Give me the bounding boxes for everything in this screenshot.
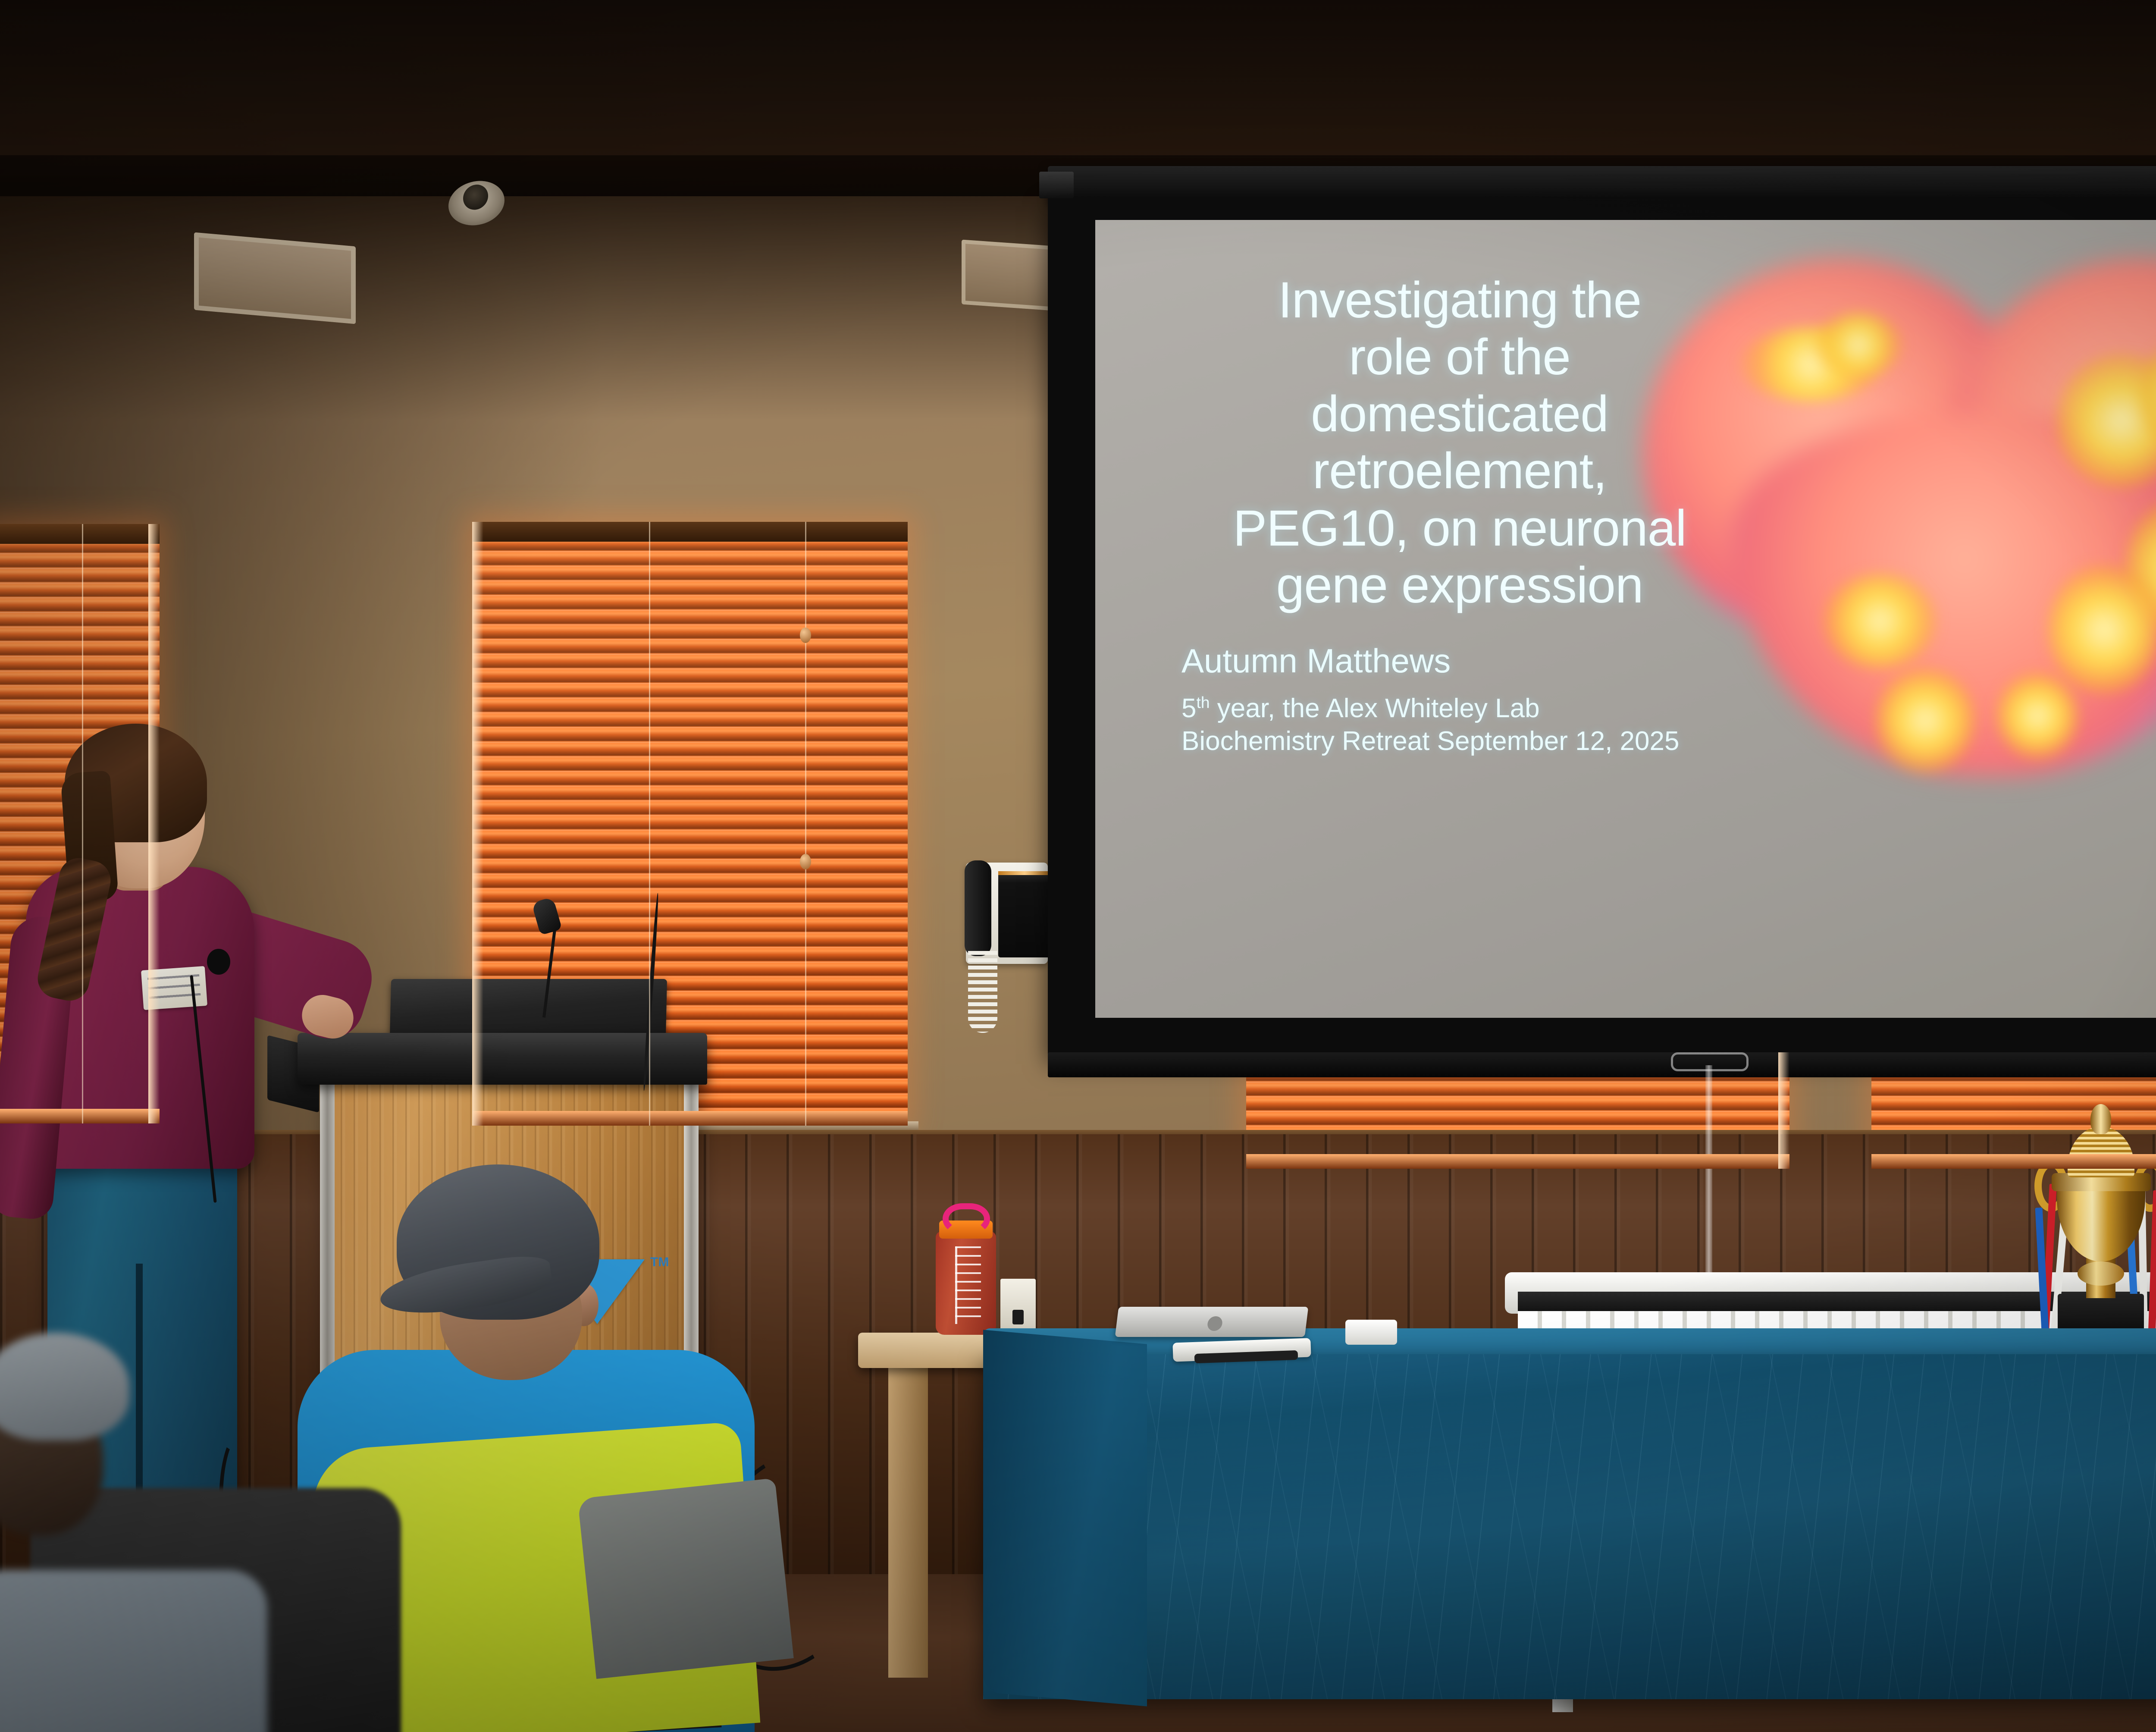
fluorescence-focus <box>1815 313 1902 377</box>
blind-headrail <box>0 524 160 544</box>
attendee-left-shoulder <box>0 1570 267 1732</box>
trophy-stem-bulb <box>2078 1261 2124 1286</box>
affiliation-ordinal-suffix: th <box>1196 693 1210 711</box>
lectern-logo-trademark: TM <box>650 1255 669 1270</box>
blind-light-edge <box>1778 1052 1789 1169</box>
silver-laptop[interactable] <box>1115 1307 1309 1337</box>
blue-tablecloth-skirt <box>983 1354 2156 1699</box>
affiliation-lab: year, the Alex Whiteley Lab <box>1210 693 1540 723</box>
blind-bottom-rail <box>0 1109 160 1123</box>
slide-author-name: Autumn Matthews <box>1181 643 2001 680</box>
slide-affiliation: 5th year, the Alex Whiteley Lab <box>1181 692 2087 725</box>
water-bottle-measure-marks <box>955 1246 981 1324</box>
blind-cord <box>649 522 650 1126</box>
screen-weight-bar <box>1048 1052 2156 1077</box>
white-object-on-table[interactable] <box>1345 1320 1397 1345</box>
lavalier-mic-icon <box>207 949 230 975</box>
side-table-leg <box>888 1367 928 1678</box>
wall-phone-keypad-screen[interactable] <box>998 871 1051 957</box>
blue-tablecloth-left-drape <box>983 1330 1147 1706</box>
slide-title: Investigating the role of the domesticat… <box>1175 272 1744 614</box>
screen-housing <box>1048 166 2156 203</box>
trophy-finial <box>2090 1104 2111 1134</box>
blind-cord <box>805 522 806 1126</box>
wall-access-panel-icon <box>194 232 356 324</box>
blind-cord <box>82 524 83 1123</box>
slide-title-line: gene expression <box>1175 557 1744 614</box>
affiliation-year-number: 5 <box>1181 693 1196 723</box>
slide-title-line: Investigating the <box>1175 272 1744 329</box>
blind-bottom-rail <box>1246 1154 1789 1169</box>
slide-title-line: PEG10, on neuronal <box>1175 500 1744 557</box>
blind-bottom-rail <box>1871 1154 2156 1169</box>
phone-coiled-cord <box>968 951 997 1033</box>
screen-housing-end-left <box>1039 172 1074 198</box>
blind-bottom-rail <box>472 1111 908 1126</box>
projection-screen-surface[interactable]: Investigating the role of the domesticat… <box>1095 220 2156 1018</box>
screen-pull-cord[interactable] <box>1705 1065 1712 1272</box>
screen-pull-handle[interactable] <box>1671 1052 1749 1071</box>
blind-knob-icon[interactable] <box>800 854 811 869</box>
phone-handset-icon[interactable] <box>965 860 991 956</box>
presentation-room-photo: Investigating the role of the domesticat… <box>0 0 2156 1732</box>
fluorescence-focus <box>2048 565 2156 694</box>
attendee-center-jacket-gray-panel <box>577 1478 793 1679</box>
slide-title-line: role of the <box>1175 329 1744 386</box>
blind-light-edge <box>148 524 160 1123</box>
slide-title-line: domesticated <box>1175 386 1744 442</box>
slide-event-line: Biochemistry Retreat September 12, 2025 <box>1181 725 2087 758</box>
water-bottle-carry-loop[interactable] <box>943 1203 990 1234</box>
blind-knob-icon[interactable] <box>800 628 811 643</box>
blind-light-edge <box>472 522 483 1126</box>
slide-affiliation-block: 5th year, the Alex Whiteley Lab Biochemi… <box>1181 692 2087 757</box>
wall-outlet-plate[interactable] <box>1000 1279 1036 1333</box>
blind-headrail <box>472 522 908 542</box>
slide-title-line: retroelement, <box>1175 442 1744 499</box>
